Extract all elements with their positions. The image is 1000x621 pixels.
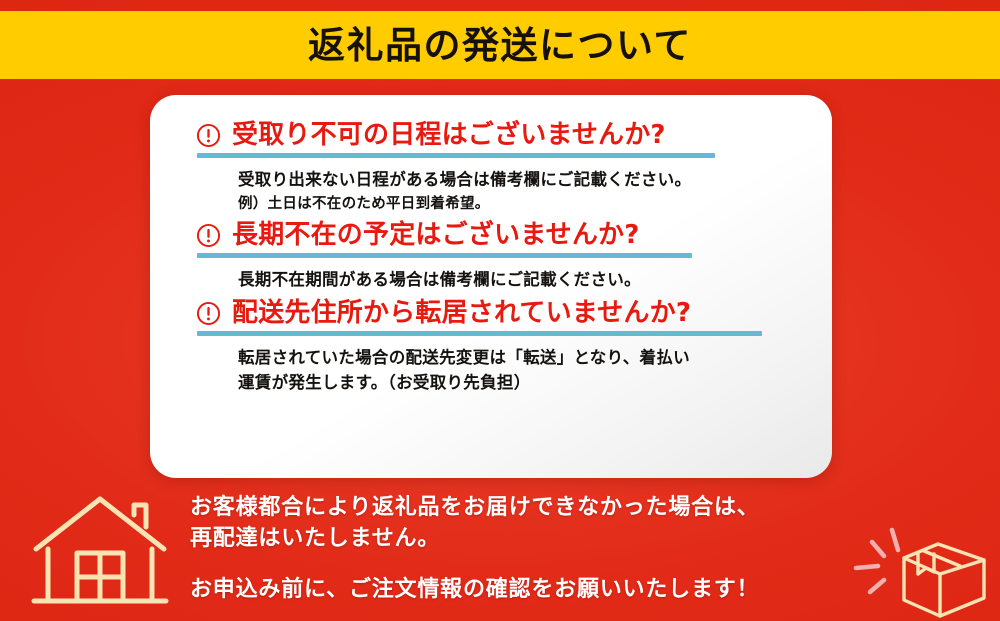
- delivery-box-icon: [848, 516, 994, 620]
- notice-underline-2: [197, 253, 692, 258]
- notice-question-2: 長期不在の予定はございませんか?: [232, 221, 640, 250]
- notice-body-1: 受取り出来ない日程がある場合は備考欄にご記載ください。 例）土日は不在のため平日…: [238, 167, 802, 215]
- notice-card: 受取り不可の日程はございませんか? 受取り出来ない日程がある場合は備考欄にご記載…: [150, 95, 832, 478]
- page-title: 返礼品の発送について: [308, 27, 692, 64]
- exclamation-circle-icon: [196, 123, 221, 148]
- notice-block-2: 長期不在の予定はございませんか? 長期不在期間がある場合は備考欄にご記載ください…: [180, 221, 802, 293]
- notice-underline-3: [197, 331, 762, 336]
- notice-body-text-3b: 運賃が発生します。（お受取り先負担）: [238, 370, 802, 396]
- footer-line-1: お客様都合により返礼品をお届けできなかった場合は、: [190, 492, 850, 523]
- sparkle-lines-icon: [856, 530, 898, 592]
- notice-block-3: 配送先住所から転居されていませんか? 転居されていた場合の配送先変更は「転送」と…: [180, 299, 802, 396]
- notice-body-text-3: 転居されていた場合の配送先変更は「転送」となり、着払い: [238, 348, 690, 367]
- header-banner: 返礼品の発送について: [0, 11, 1000, 79]
- footer-text-group: お客様都合により返礼品をお届けできなかった場合は、 再配達はいたしません。 お申…: [190, 492, 850, 606]
- notice-question-row-3: 配送先住所から転居されていませんか?: [180, 299, 802, 328]
- exclamation-circle-icon: [196, 223, 221, 248]
- notice-question-row-1: 受取り不可の日程はございませんか?: [180, 121, 802, 150]
- footer-line-2: 再配達はいたしません。: [190, 523, 850, 554]
- notice-block-1: 受取り不可の日程はございませんか? 受取り出来ない日程がある場合は備考欄にご記載…: [180, 121, 802, 215]
- exclamation-circle-icon: [196, 301, 221, 326]
- notice-question-row-2: 長期不在の予定はございませんか?: [180, 221, 802, 250]
- house-icon: [26, 487, 176, 615]
- notice-body-text-1: 受取り出来ない日程がある場合は備考欄にご記載ください。: [238, 170, 691, 189]
- notice-body-2: 長期不在期間がある場合は備考欄にご記載ください。: [238, 267, 802, 293]
- notice-question-1: 受取り不可の日程はございませんか?: [232, 121, 666, 150]
- notice-underline-1: [197, 153, 715, 158]
- footer-line-3: お申込み前に、ご注文情報の確認をお願いいたします！: [190, 574, 850, 605]
- notice-example-1: 例）土日は不在のため平日到着希望。: [238, 193, 802, 215]
- notice-body-3: 転居されていた場合の配送先変更は「転送」となり、着払い 運賃が発生します。（お受…: [238, 345, 802, 396]
- notice-question-3: 配送先住所から転居されていませんか?: [232, 299, 691, 328]
